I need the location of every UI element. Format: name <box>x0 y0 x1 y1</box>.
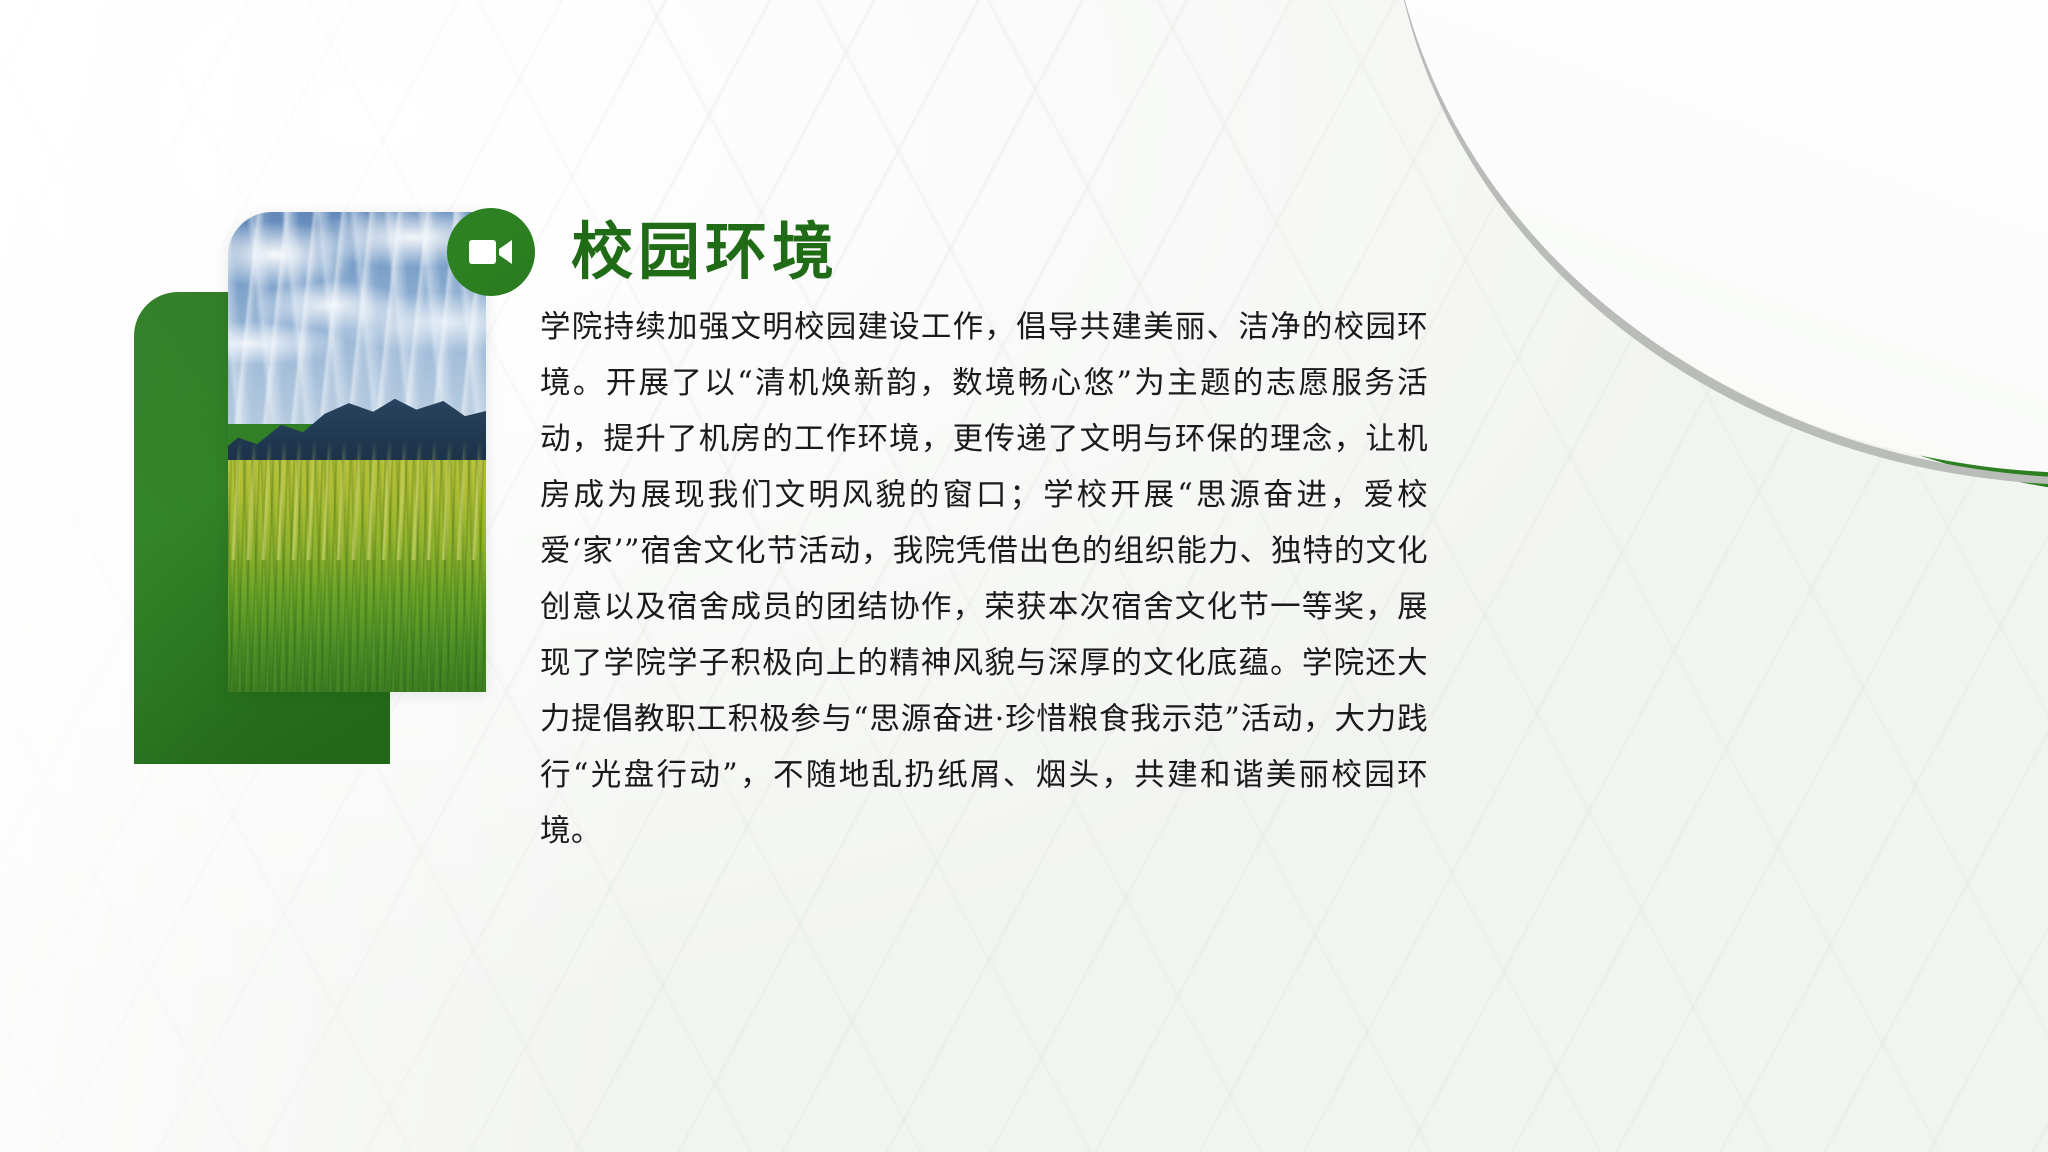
body-paragraph: 学院持续加强文明校园建设工作，倡导共建美丽、洁净的校园环境。开展了以“清机焕新韵… <box>540 300 1428 860</box>
photo-wheat-stalks-layer <box>228 440 486 560</box>
corner-decoration <box>1438 0 2048 500</box>
media-group <box>134 212 486 764</box>
corner-green-shape <box>1438 0 2048 500</box>
slide-canvas: 校园环境 学院持续加强文明校园建设工作，倡导共建美丽、洁净的校园环境。开展了以“… <box>0 0 2048 1152</box>
section-header: 校园环境 <box>447 208 839 296</box>
page-title: 校园环境 <box>571 221 839 283</box>
corner-white-shape <box>1386 0 2048 473</box>
video-camera-icon <box>447 208 535 296</box>
corner-gray-arc <box>1396 0 2048 478</box>
